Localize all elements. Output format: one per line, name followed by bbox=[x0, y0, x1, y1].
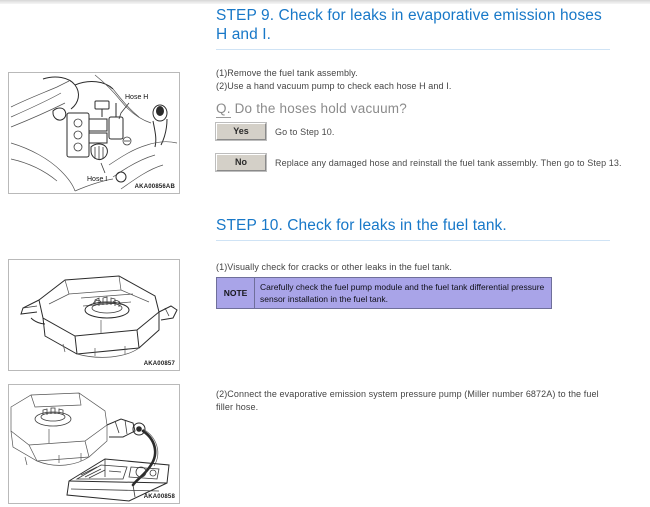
figure-pressure-pump-connection-drawing bbox=[9, 385, 179, 503]
step-9-text-block: STEP 9. Check for leaks in evaporative e… bbox=[216, 6, 636, 171]
answer-row-yes[interactable]: Yes Go to Step 10. bbox=[216, 123, 636, 140]
step-10-heading: STEP 10. Check for leaks in the fuel tan… bbox=[216, 216, 610, 241]
figure-fuel-tank-assembly-drawing bbox=[9, 260, 179, 370]
figure-code-1: AKA00856AB bbox=[135, 184, 175, 190]
note-box[interactable]: NOTE Carefully check the fuel pump modul… bbox=[216, 277, 552, 309]
note-label: NOTE bbox=[217, 278, 255, 308]
step-9-procedure-2: (2)Use a hand vacuum pump to check each … bbox=[216, 80, 636, 93]
step-9-question: Q. Do the hoses hold vacuum? bbox=[216, 100, 636, 118]
step-10-text-block: STEP 10. Check for leaks in the fuel tan… bbox=[216, 216, 636, 309]
step-10-procedure-1: (1)Visually check for cracks or other le… bbox=[216, 261, 636, 274]
answer-yes-button[interactable]: Yes bbox=[216, 123, 266, 140]
note-text: Carefully check the fuel pump module and… bbox=[255, 278, 551, 308]
answer-no-button[interactable]: No bbox=[216, 154, 266, 171]
document-page: STEP 9. Check for leaks in evaporative e… bbox=[0, 4, 650, 507]
figure-fuel-tank-assembly: AKA00857 bbox=[8, 259, 180, 371]
question-marker: Q. bbox=[216, 101, 231, 118]
step-9-procedure-1: (1)Remove the fuel tank assembly. bbox=[216, 67, 636, 80]
answer-yes-text: Go to Step 10. bbox=[275, 127, 334, 137]
figure-hoses-h-and-i: Hose H Hose I AKA00856AB bbox=[8, 72, 180, 194]
figure-hoses-h-and-i-drawing: Hose H Hose I bbox=[9, 73, 179, 193]
answer-row-no[interactable]: No Replace any damaged hose and reinstal… bbox=[216, 154, 636, 171]
answer-no-text: Replace any damaged hose and reinstall t… bbox=[275, 158, 622, 168]
figure-callout-hose-i: Hose I bbox=[87, 176, 107, 183]
figure-code-3: AKA00858 bbox=[144, 494, 175, 500]
step-10-procedure-2-block: (2)Connect the evaporative emission syst… bbox=[216, 388, 636, 414]
figure-callout-hose-h: Hose H bbox=[125, 94, 148, 101]
figure-code-2: AKA00857 bbox=[144, 361, 175, 367]
figure-pressure-pump-connection: AKA00858 bbox=[8, 384, 180, 504]
step-10-procedure-2: (2)Connect the evaporative emission syst… bbox=[216, 388, 600, 414]
question-text: Do the hoses hold vacuum? bbox=[235, 101, 407, 116]
step-9-heading: STEP 9. Check for leaks in evaporative e… bbox=[216, 6, 610, 50]
